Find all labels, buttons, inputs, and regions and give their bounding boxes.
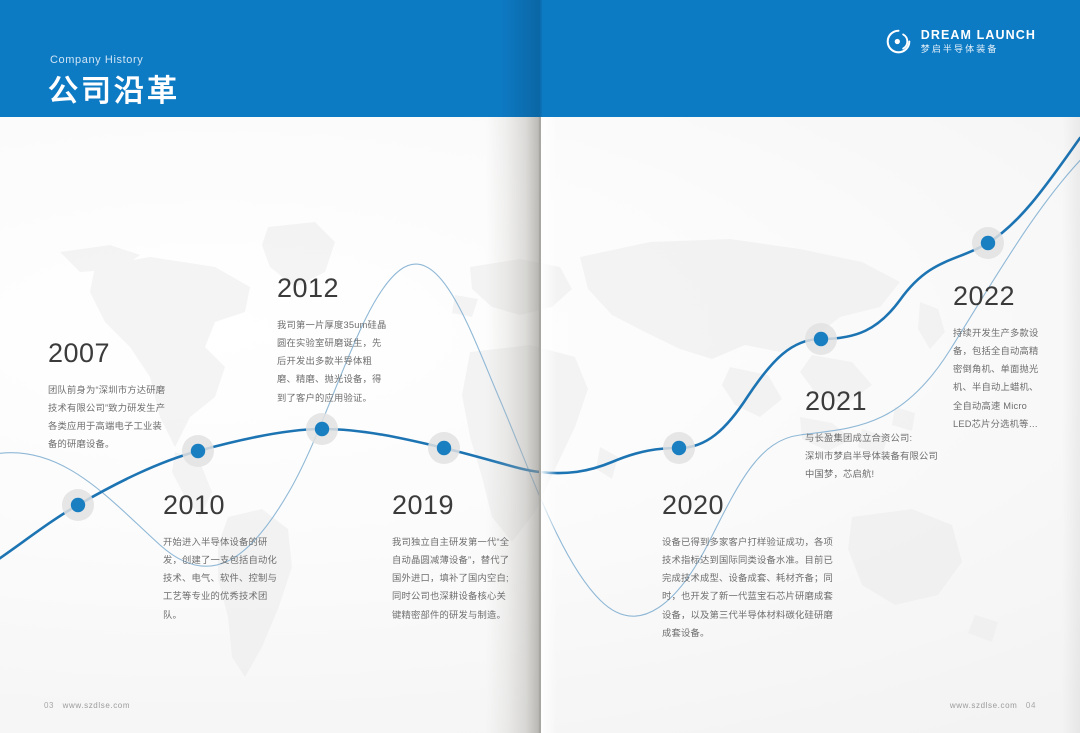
- milestone-year: 2019: [392, 492, 510, 519]
- footer-url-right[interactable]: www.szdlse.com: [950, 701, 1018, 710]
- logo-name-en: DREAM LAUNCH: [921, 29, 1036, 42]
- footer-url-left[interactable]: www.szdlse.com: [63, 701, 131, 710]
- milestone-2019: 2019 我司独立自主研发第一代“全自动晶圆减薄设备”，替代了国外进口，填补了国…: [392, 492, 510, 624]
- milestone-description: 持续开发生产多款设备，包括全自动高精密倒角机、单面抛光机、半自动上蜡机、全自动高…: [953, 324, 1043, 433]
- dream-launch-circle-mark: [885, 28, 912, 55]
- milestone-description: 与长盈集团成立合资公司: 深圳市梦启半导体装备有限公司 中国梦，芯启航!: [805, 429, 983, 483]
- brochure-page: 2007 团队前身为“深圳市方达研磨技术有限公司”致力研发生产各类应用于高端电子…: [0, 0, 1080, 733]
- milestone-2007: 2007 团队前身为“深圳市方达研磨技术有限公司”致力研发生产各类应用于高端电子…: [48, 340, 166, 454]
- footer-page-number-right: 04: [1026, 701, 1036, 710]
- footer-page-number-left: 03: [44, 701, 54, 710]
- logo-name-cn: 梦启半导体装备: [921, 45, 1036, 54]
- page-header: Company History 公司沿革 DREAM LAUNCH 梦启半导体装…: [0, 0, 1080, 117]
- logo-text: DREAM LAUNCH 梦启半导体装备: [921, 29, 1036, 55]
- milestone-description: 团队前身为“深圳市方达研磨技术有限公司”致力研发生产各类应用于高端电子工业装备的…: [48, 381, 166, 454]
- footer-right: www.szdlse.com 04: [950, 701, 1036, 710]
- milestone-description: 设备已得到多家客户打样验证成功，各项技术指标达到国际同类设备水准。目前已完成技术…: [662, 533, 838, 642]
- milestone-description: 开始进入半导体设备的研发，创建了一支包括自动化技术、电气、软件、控制与工艺等专业…: [163, 533, 281, 624]
- header-eyebrow: Company History: [50, 54, 143, 66]
- milestone-2022: 2022 持续开发生产多款设备，包括全自动高精密倒角机、单面抛光机、半自动上蜡机…: [953, 283, 1043, 433]
- book-spine-highlight: [541, 117, 557, 733]
- milestone-year: 2007: [48, 340, 166, 367]
- milestone-year: 2012: [277, 275, 390, 302]
- page-right-edge-shade: [1062, 117, 1080, 733]
- milestone-year: 2020: [662, 492, 838, 519]
- milestone-description: 我司独立自主研发第一代“全自动晶圆减薄设备”，替代了国外进口，填补了国内空白;同…: [392, 533, 510, 624]
- milestone-year: 2022: [953, 283, 1043, 310]
- milestone-2012: 2012 我司第一片厚度35um硅晶圆在实验室研磨诞生，先后开发出多款半导体粗磨…: [277, 275, 390, 407]
- milestone-2010: 2010 开始进入半导体设备的研发，创建了一支包括自动化技术、电气、软件、控制与…: [163, 492, 281, 624]
- book-spine-shadow: [486, 117, 540, 733]
- milestone-2020: 2020 设备已得到多家客户打样验证成功，各项技术指标达到国际同类设备水准。目前…: [662, 492, 838, 642]
- header-spine-shade: [500, 0, 542, 117]
- milestone-description: 我司第一片厚度35um硅晶圆在实验室研磨诞生，先后开发出多款半导体粗磨、精磨、抛…: [277, 316, 390, 407]
- page-title: 公司沿革: [48, 66, 180, 110]
- footer-left: 03 www.szdlse.com: [44, 701, 130, 710]
- milestone-year: 2010: [163, 492, 281, 519]
- brand-logo: DREAM LAUNCH 梦启半导体装备: [885, 28, 1036, 55]
